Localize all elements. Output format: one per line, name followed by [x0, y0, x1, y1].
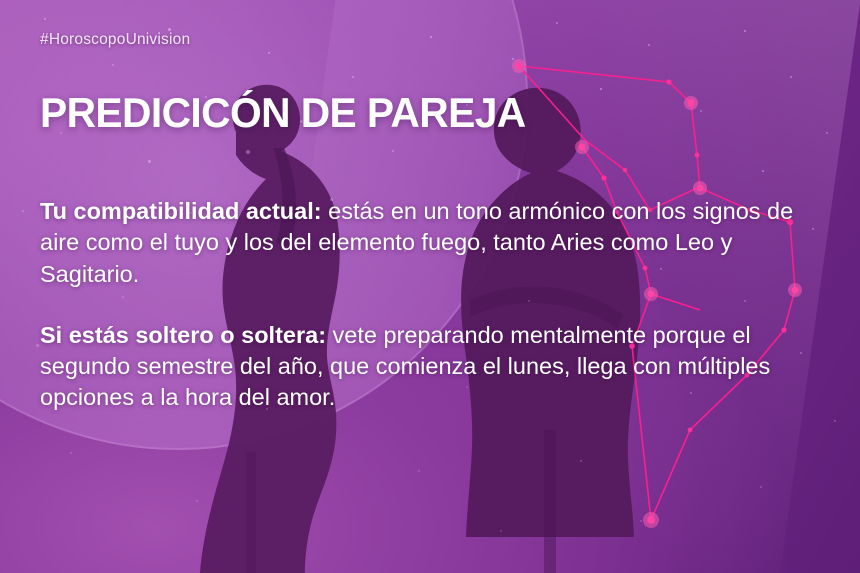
text-content: #HoroscopoUnivision PREDICICÓN DE PAREJA…	[0, 0, 860, 573]
hashtag: #HoroscopoUnivision	[40, 31, 190, 49]
paragraph-compatibility-lead: Tu compatibilidad actual:	[40, 198, 322, 224]
page-title: PREDICICÓN DE PAREJA	[40, 92, 526, 134]
paragraph-compatibility: Tu compatibilidad actual: estás en un to…	[40, 196, 826, 290]
horoscope-card: #HoroscopoUnivision PREDICICÓN DE PAREJA…	[0, 0, 860, 573]
paragraph-single: Si estás soltero o soltera: vete prepara…	[40, 320, 826, 414]
paragraph-single-lead: Si estás soltero o soltera:	[40, 322, 326, 348]
body-copy: Tu compatibilidad actual: estás en un to…	[40, 196, 826, 414]
